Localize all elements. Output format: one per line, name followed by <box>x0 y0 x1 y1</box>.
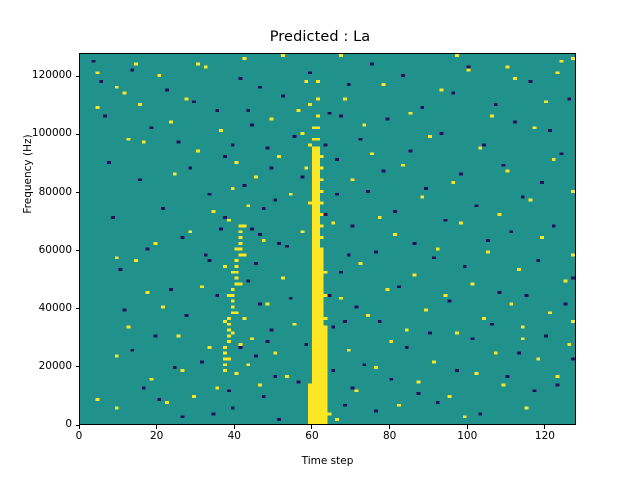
x-tick-mark <box>311 425 312 429</box>
y-tick-label: 120000 <box>6 69 72 81</box>
y-tick-label: 0 <box>6 418 72 430</box>
y-tick-label: 100000 <box>6 127 72 139</box>
y-tick-label: 40000 <box>6 302 72 314</box>
y-tick-mark <box>76 76 80 77</box>
x-tick-label: 60 <box>282 430 342 442</box>
x-tick-mark <box>234 425 235 429</box>
y-tick-label: 60000 <box>6 244 72 256</box>
x-tick-label: 120 <box>515 430 575 442</box>
x-tick-mark <box>156 425 157 429</box>
heatmap-image <box>80 54 575 424</box>
y-tick-mark <box>76 134 80 135</box>
x-tick-mark <box>544 425 545 429</box>
x-tick-label: 100 <box>437 430 497 442</box>
heatmap-axes <box>79 53 576 425</box>
x-axis-label: Time step <box>79 455 576 467</box>
x-tick-label: 40 <box>204 430 264 442</box>
y-tick-mark <box>76 366 80 367</box>
x-tick-mark <box>79 425 80 429</box>
x-tick-label: 80 <box>360 430 420 442</box>
chart-title: Predicted : La <box>0 29 640 45</box>
y-tick-mark <box>76 308 80 309</box>
x-tick-label: 20 <box>127 430 187 442</box>
x-tick-mark <box>389 425 390 429</box>
x-tick-label: 0 <box>49 430 109 442</box>
y-tick-mark <box>76 192 80 193</box>
matplotlib-figure: Predicted : La Frequency (Hz) Time step … <box>0 0 640 480</box>
y-tick-mark <box>76 250 80 251</box>
y-tick-label: 20000 <box>6 360 72 372</box>
y-axis-label: Frequency (Hz) <box>22 94 34 254</box>
x-tick-mark <box>467 425 468 429</box>
y-tick-label: 80000 <box>6 186 72 198</box>
